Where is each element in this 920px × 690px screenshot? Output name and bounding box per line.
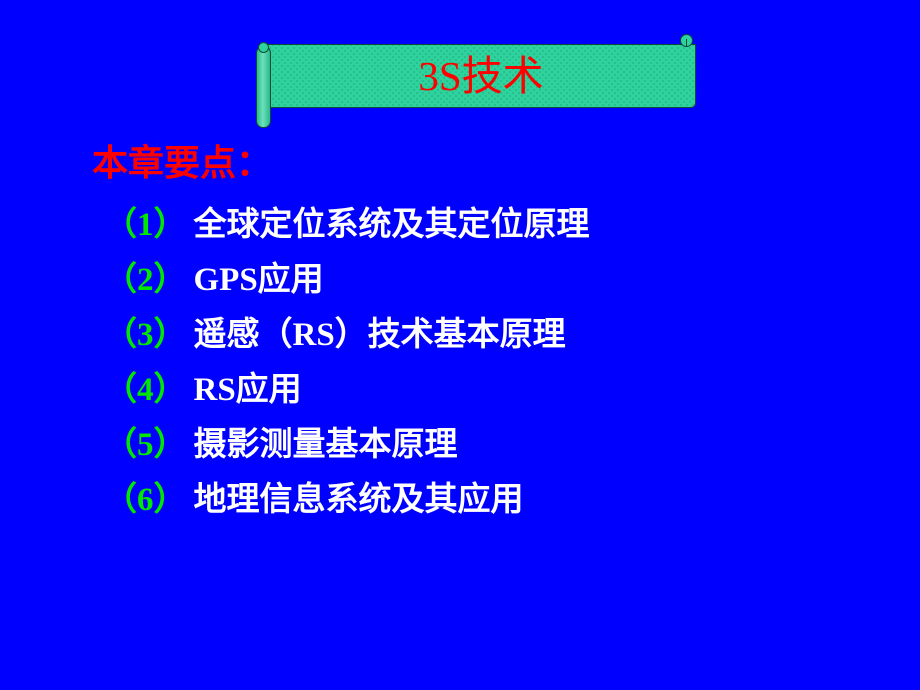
- list-item-number: （6）: [104, 484, 187, 517]
- list-item-label: 摄影测量基本原理: [194, 429, 458, 462]
- list-item-number: （3）: [104, 319, 187, 352]
- list-item: （1） 全球定位系统及其定位原理: [104, 198, 884, 253]
- list-item: （3） 遥感（RS）技术基本原理: [104, 308, 884, 363]
- topic-list: （1） 全球定位系统及其定位原理 （2） GPS应用 （3） 遥感（RS）技术基…: [104, 198, 884, 528]
- title-scroll-banner: 3S技术: [252, 32, 698, 122]
- list-item-label: 地理信息系统及其应用: [194, 484, 524, 517]
- list-item: （5） 摄影测量基本原理: [104, 418, 884, 473]
- list-item-label: 遥感（RS）技术基本原理: [194, 319, 566, 352]
- list-item-number: （2）: [104, 264, 187, 297]
- list-item: （2） GPS应用: [104, 253, 884, 308]
- list-item: （6） 地理信息系统及其应用: [104, 473, 884, 528]
- list-item-label: GPS应用: [194, 264, 324, 297]
- slide-title: 3S技术: [266, 44, 696, 108]
- list-item-number: （5）: [104, 429, 187, 462]
- list-item-label: RS应用: [194, 374, 302, 407]
- presentation-slide: 3S技术 本章要点： （1） 全球定位系统及其定位原理 （2） GPS应用 （3…: [0, 0, 920, 690]
- list-item-label: 全球定位系统及其定位原理: [194, 209, 590, 242]
- list-item-number: （1）: [104, 209, 187, 242]
- list-item: （4） RS应用: [104, 363, 884, 418]
- list-item-number: （4）: [104, 374, 187, 407]
- section-heading: 本章要点：: [92, 144, 272, 184]
